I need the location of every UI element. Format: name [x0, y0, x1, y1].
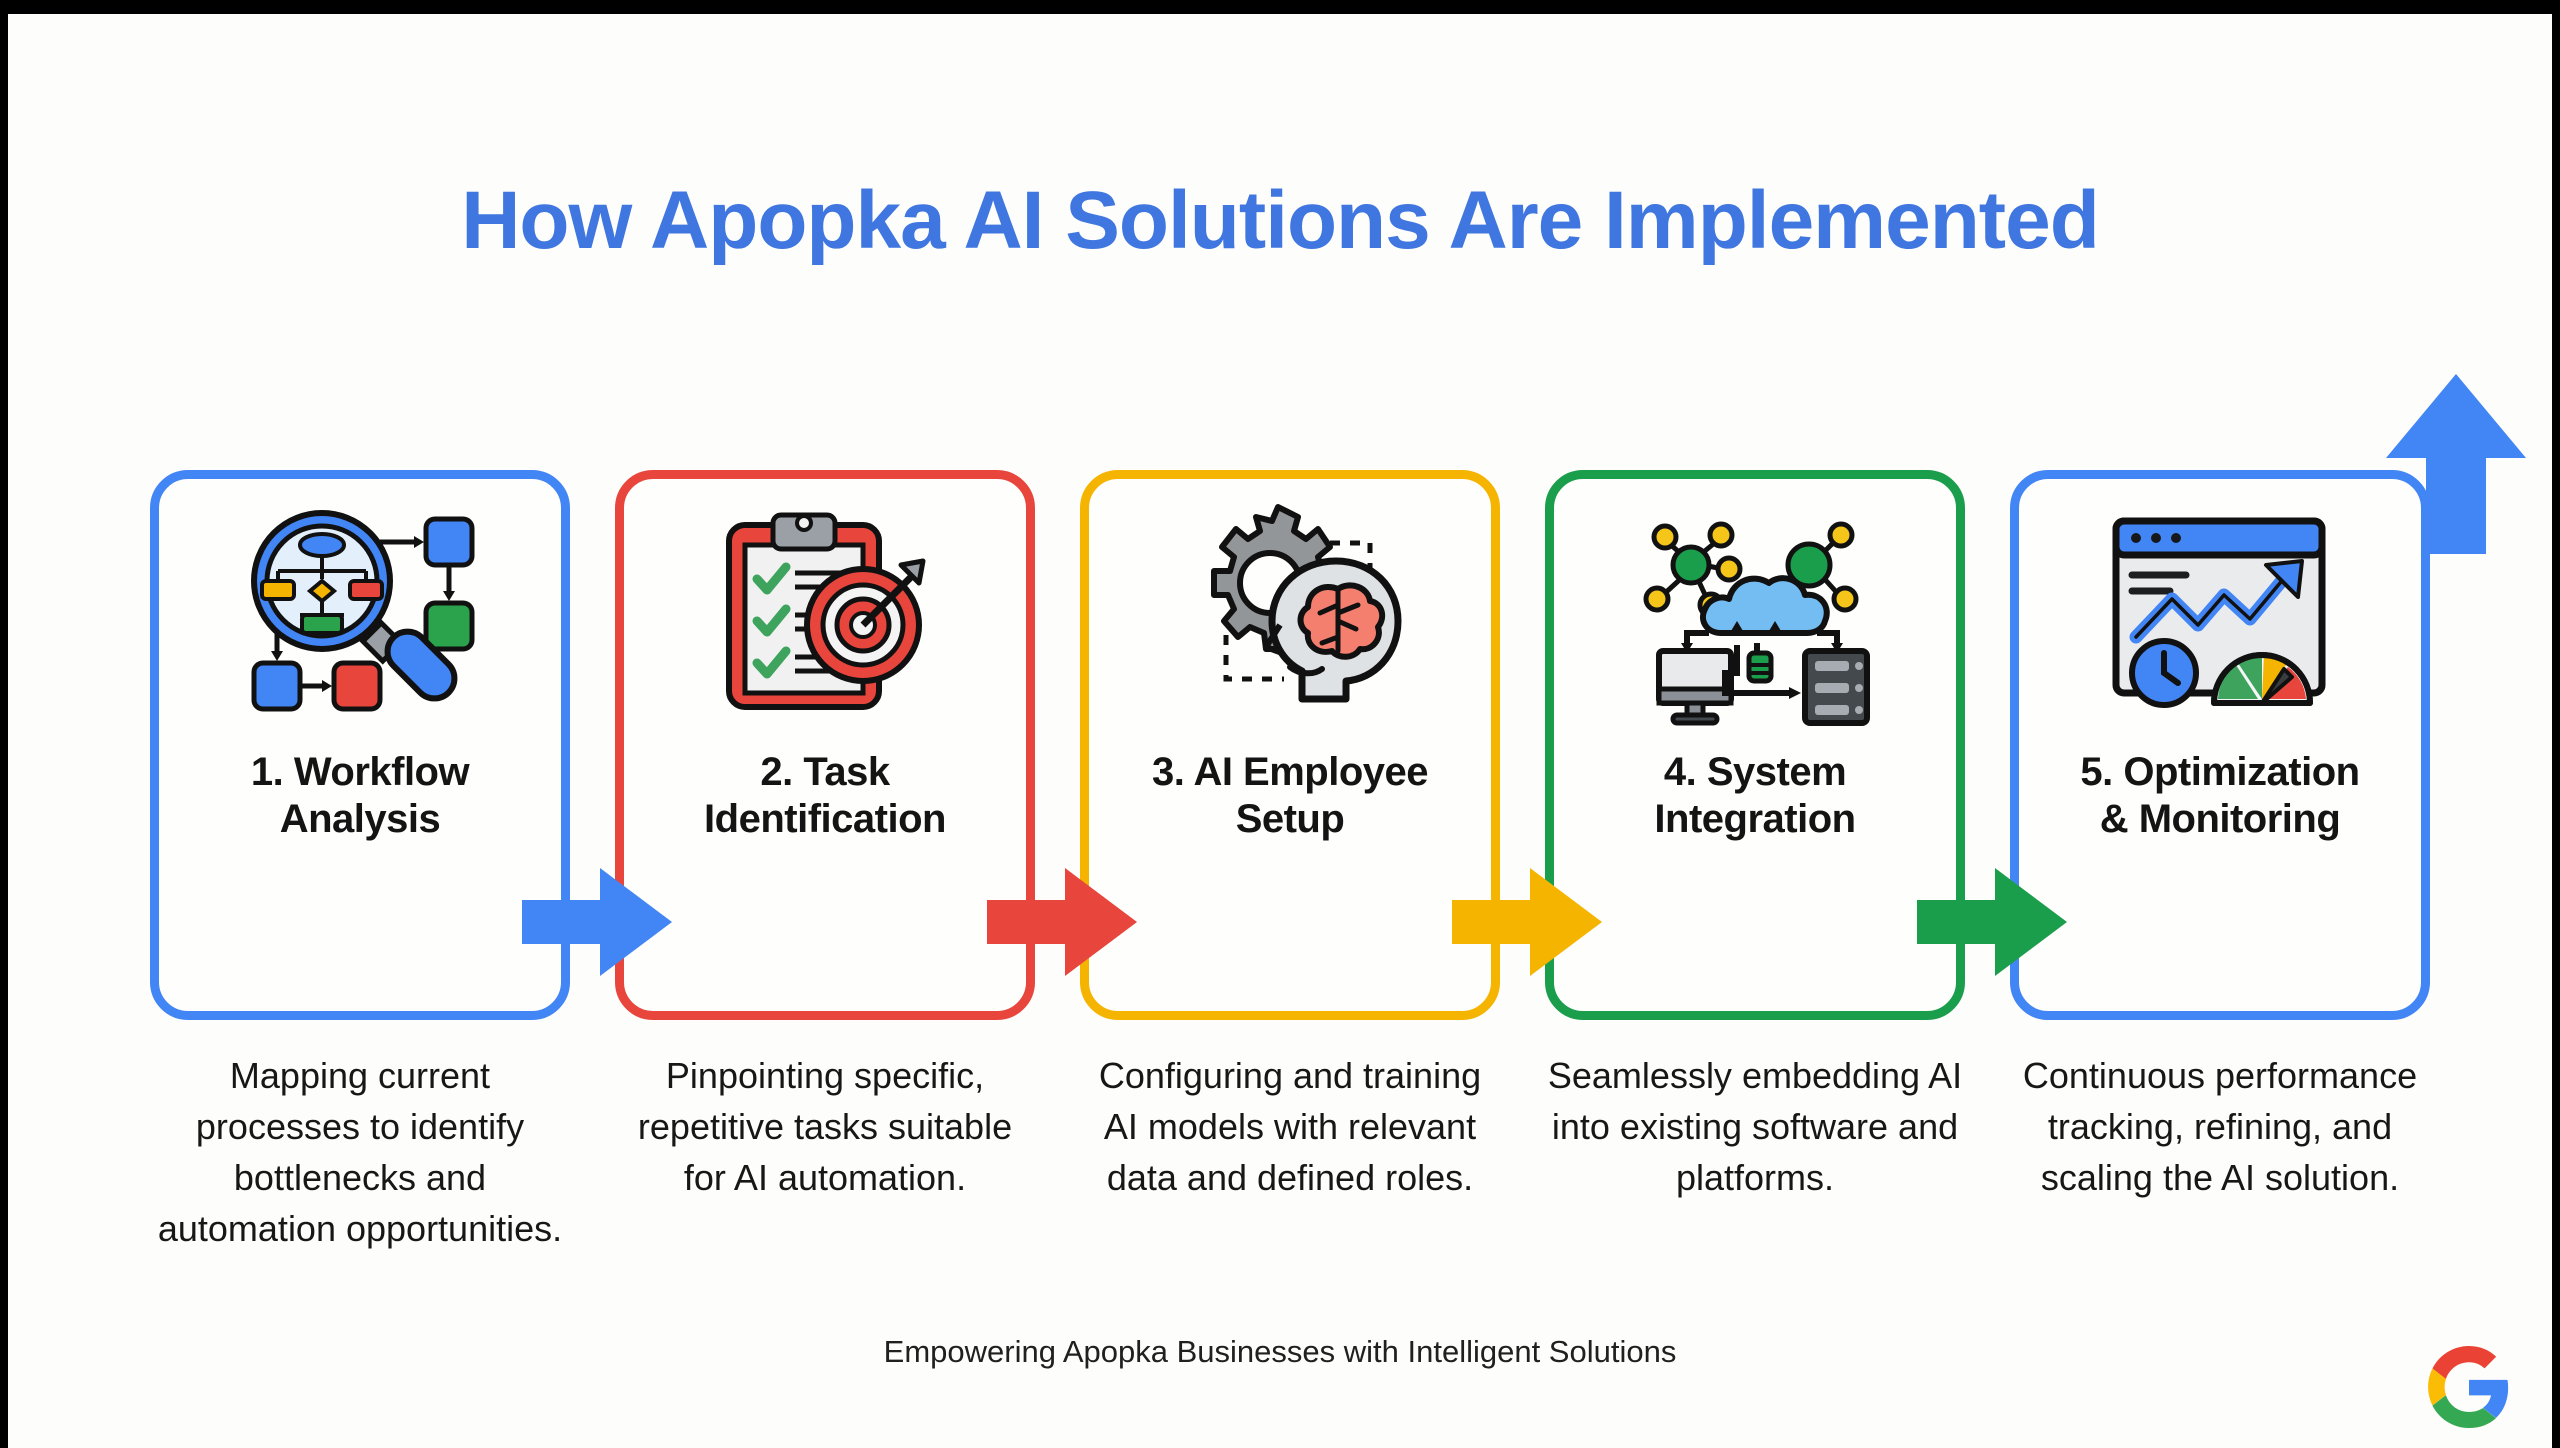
step-title-line2: Identification — [704, 797, 946, 841]
infographic-canvas: How Apopka AI Solutions Are Implemented — [8, 14, 2552, 1448]
arrow-3-to-4 — [1452, 862, 1602, 982]
footer-tagline: Empowering Apopka Businesses with Intell… — [8, 1334, 2552, 1370]
dashboard-chart-gauge-icon — [2090, 503, 2350, 733]
magnifier-flowchart-icon — [230, 503, 490, 733]
arrow-1-to-2 — [522, 862, 672, 982]
step-title-line2: Setup — [1236, 797, 1345, 841]
google-g-logo-icon — [2428, 1346, 2510, 1428]
clipboard-checklist-target-icon — [695, 503, 955, 733]
step-title-line1: 5. Optimization — [2080, 750, 2359, 794]
step-title-line2: & Monitoring — [2100, 797, 2341, 841]
step-title-5: 5. Optimization & Monitoring — [2030, 749, 2410, 843]
step-title-2: 2. Task Identification — [635, 749, 1015, 843]
cloud-network-server-icon — [1625, 503, 1885, 733]
step-description-2: Pinpointing specific, repetitive tasks s… — [615, 1050, 1035, 1203]
arrow-2-to-3 — [987, 862, 1137, 982]
step-description-4: Seamlessly embedding AI into existing so… — [1545, 1050, 1965, 1203]
step-description-3: Configuring and training AI models with … — [1080, 1050, 1500, 1203]
step-title-line1: 2. Task — [760, 750, 889, 794]
step-title-line1: 1. Workflow — [251, 750, 469, 794]
gear-brain-head-icon — [1160, 503, 1420, 733]
step-card-3[interactable]: 3. AI Employee Setup — [1080, 470, 1500, 1020]
step-card-1[interactable]: 1. Workflow Analysis — [150, 470, 570, 1020]
step-title-4: 4. System Integration — [1565, 749, 1945, 843]
page-title: How Apopka AI Solutions Are Implemented — [8, 174, 2552, 268]
step-card-4[interactable]: 4. System Integration — [1545, 470, 1965, 1020]
step-card-5[interactable]: 5. Optimization & Monitoring — [2010, 470, 2430, 1020]
step-title-line2: Analysis — [280, 797, 441, 841]
step-title-line2: Integration — [1654, 797, 1855, 841]
step-description-5: Continuous performance tracking, refinin… — [2010, 1050, 2430, 1203]
step-description-1: Mapping current processes to identify bo… — [150, 1050, 570, 1254]
arrow-loop-back — [2386, 374, 2526, 554]
step-title-3: 3. AI Employee Setup — [1100, 749, 1480, 843]
step-title-1: 1. Workflow Analysis — [170, 749, 550, 843]
step-card-2[interactable]: 2. Task Identification — [615, 470, 1035, 1020]
steps-row: 1. Workflow Analysis — [150, 470, 2430, 1020]
arrow-4-to-5 — [1917, 862, 2067, 982]
descriptions-row: Mapping current processes to identify bo… — [150, 1050, 2430, 1300]
step-title-line1: 4. System — [1664, 750, 1846, 794]
step-title-line1: 3. AI Employee — [1152, 750, 1428, 794]
